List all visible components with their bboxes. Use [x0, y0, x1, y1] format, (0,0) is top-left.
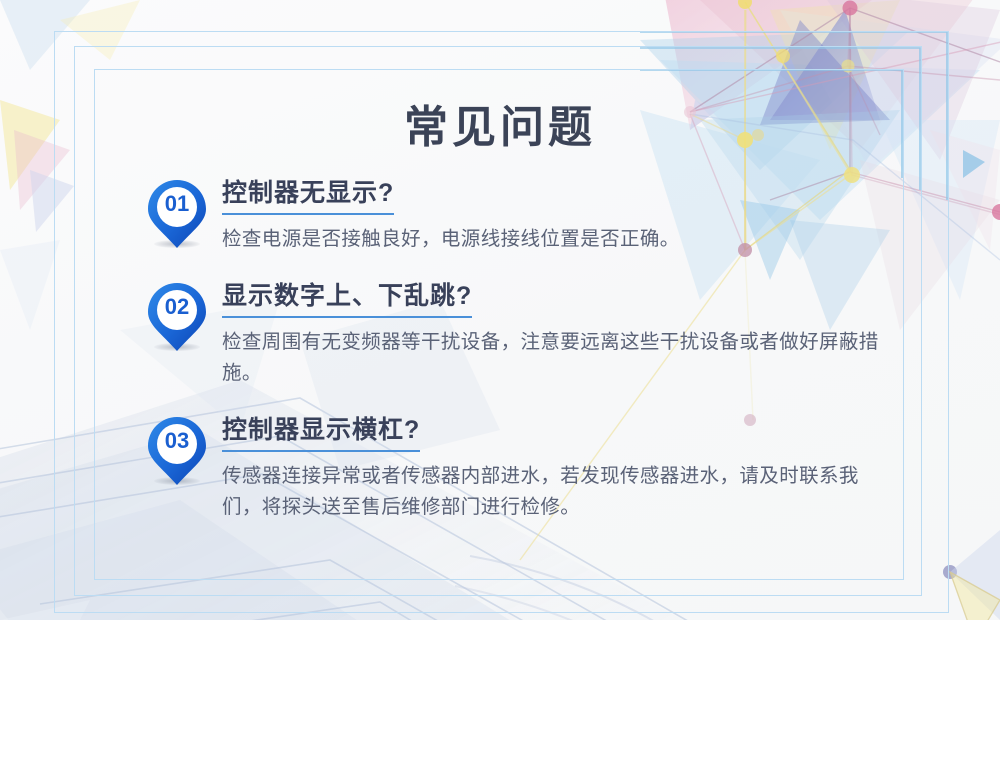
faq-list: 01 控制器无显示? 检查电源是否接触良好，电源线接线位置是否正确。 02	[146, 178, 906, 523]
page-title: 常见问题	[0, 91, 1000, 155]
faq-question: 显示数字上、下乱跳?	[222, 281, 472, 318]
faq-marker-pin: 01	[146, 178, 208, 254]
faq-body: 显示数字上、下乱跳? 检查周围有无变频器等干扰设备，注意要远离这些干扰设备或者做…	[222, 281, 906, 389]
faq-item: 01 控制器无显示? 检查电源是否接触良好，电源线接线位置是否正确。	[146, 178, 906, 255]
faq-answer: 检查电源是否接触良好，电源线接线位置是否正确。	[222, 224, 894, 255]
faq-marker-number: 03	[147, 428, 207, 454]
faq-question: 控制器无显示?	[222, 178, 394, 215]
faq-body: 控制器显示横杠? 传感器连接异常或者传感器内部进水，若发现传感器进水，请及时联系…	[222, 415, 906, 523]
faq-answer: 传感器连接异常或者传感器内部进水，若发现传感器进水，请及时联系我们，将探头送至售…	[222, 461, 894, 523]
faq-marker-number: 02	[147, 294, 207, 320]
faq-item: 03 控制器显示横杠? 传感器连接异常或者传感器内部进水，若发现传感器进水，请及…	[146, 415, 906, 523]
faq-answer: 检查周围有无变频器等干扰设备，注意要远离这些干扰设备或者做好屏蔽措施。	[222, 327, 894, 389]
faq-marker-pin: 03	[146, 415, 208, 491]
faq-marker-number: 01	[147, 191, 207, 217]
content-root: 常见问题	[0, 0, 1000, 758]
faq-question: 控制器显示横杠?	[222, 415, 420, 452]
page-root: 常见问题	[0, 0, 1000, 758]
faq-item: 02 显示数字上、下乱跳? 检查周围有无变频器等干扰设备，注意要远离这些干扰设备…	[146, 281, 906, 389]
faq-marker-pin: 02	[146, 281, 208, 357]
faq-body: 控制器无显示? 检查电源是否接触良好，电源线接线位置是否正确。	[222, 178, 906, 255]
